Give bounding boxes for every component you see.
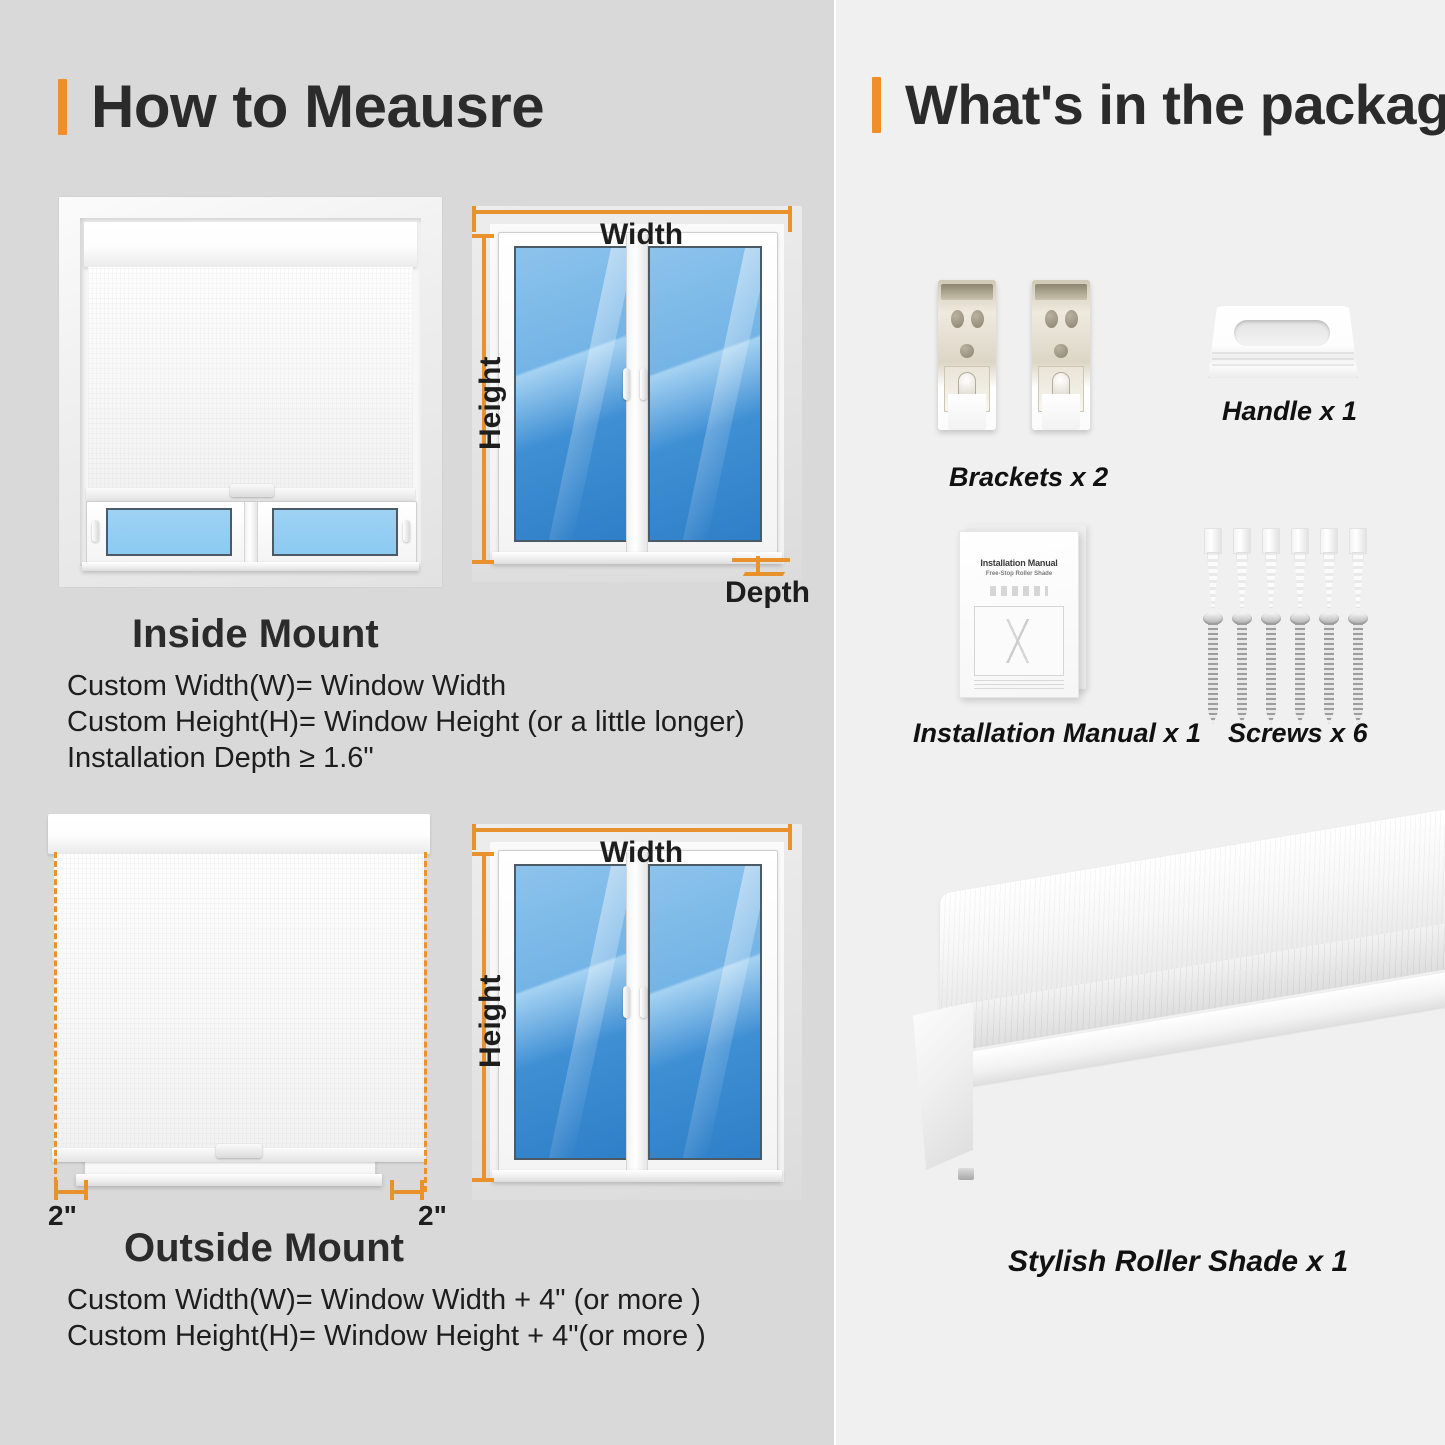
roller-shade-icon [900, 880, 1445, 1210]
package-title: What's in the package [905, 72, 1445, 137]
depth-label: Depth [725, 576, 810, 610]
screw-icon [1261, 612, 1281, 724]
screw-icon [1203, 612, 1223, 724]
infographic-page: How to Meausre [0, 0, 1445, 1445]
how-to-measure-heading: How to Meausre [58, 72, 544, 141]
package-heading: What's in the package [872, 72, 1445, 137]
handle-icon [1208, 306, 1358, 378]
window-pane-right [648, 246, 762, 542]
window-handle-left [623, 368, 630, 400]
manual-icon: Installation Manual Free-Stop Roller Sha… [959, 531, 1079, 698]
window-pane-left [106, 508, 232, 556]
wall-anchor-icon [1262, 528, 1280, 608]
overhang-right-label: 2" [418, 1200, 447, 1232]
handle-label: Handle x 1 [1222, 396, 1357, 427]
screw-icon [1348, 612, 1368, 724]
window-pane-right [648, 864, 762, 1160]
window-handle-right [403, 520, 410, 542]
window-sill [76, 1174, 382, 1186]
overhang-guide-right [424, 852, 427, 1192]
wall-anchor-icon [1320, 528, 1338, 608]
inside-mount-title: Inside Mount [132, 612, 379, 657]
shade-headrail [84, 222, 417, 267]
window-mullion [244, 502, 258, 562]
window-sill [492, 1170, 782, 1182]
manual-cover-subtitle: Free-Stop Roller Shade [968, 571, 1070, 577]
screw-icon [1319, 612, 1339, 724]
shade-headrail [48, 814, 430, 854]
roller-shade-label: Stylish Roller Shade x 1 [1008, 1245, 1348, 1279]
brackets-label: Brackets x 2 [949, 462, 1108, 493]
window-pane-left [514, 246, 628, 542]
window-handle-right [640, 368, 647, 400]
how-to-measure-title: How to Meausre [91, 72, 544, 141]
screw-icon [1290, 612, 1310, 724]
shade-pull-grip [216, 1144, 262, 1158]
wall-anchor-icon [1233, 528, 1251, 608]
panel-divider [834, 0, 836, 1445]
window-pane-left [514, 864, 628, 1160]
width-label: Width [600, 218, 683, 252]
shade-pull-grip [230, 484, 274, 497]
height-label: Height [474, 975, 508, 1068]
inside-mount-measure-diagram: Width Height Depth [460, 200, 810, 600]
screw-icon [1232, 612, 1252, 724]
overhang-left-label: 2" [48, 1200, 77, 1232]
window-sill [82, 562, 419, 571]
height-label: Height [474, 357, 508, 450]
wall-anchor-icon [1349, 528, 1367, 608]
screws-label: Screws x 6 [1228, 718, 1368, 749]
outside-mount-title: Outside Mount [124, 1226, 404, 1271]
outside-mount-shade-diagram: 2" 2" [36, 808, 446, 1208]
window-handle-left [623, 986, 630, 1018]
inside-mount-spec-0: Custom Width(W)= Window Width [67, 670, 506, 703]
overhang-guide-left [54, 852, 57, 1192]
inside-mount-spec-2: Installation Depth ≥ 1.6" [67, 742, 374, 775]
shade-fabric [54, 853, 424, 1149]
window-pane-right [272, 508, 398, 556]
outside-mount-measure-diagram: Width Height [460, 818, 810, 1218]
outside-mount-spec-1: Custom Height(H)= Window Height + 4"(or … [67, 1320, 706, 1353]
window-handle-right [640, 986, 647, 1018]
outside-mount-spec-0: Custom Width(W)= Window Width + 4" (or m… [67, 1284, 701, 1317]
manual-cover-title: Installation Manual [968, 558, 1070, 568]
inside-mount-shade-diagram [58, 196, 443, 588]
shade-fabric [88, 266, 413, 489]
installation-manual-label: Installation Manual x 1 [913, 718, 1201, 749]
accent-bar-icon [58, 79, 67, 135]
bracket-icon [1032, 280, 1090, 430]
accent-bar-icon [872, 77, 881, 133]
wall-anchor-icon [1204, 528, 1222, 608]
inside-mount-spec-1: Custom Height(H)= Window Height (or a li… [67, 706, 745, 739]
window-handle-left [92, 520, 99, 542]
wall-anchor-icon [1291, 528, 1309, 608]
screws-group [1204, 528, 1374, 708]
width-label: Width [600, 836, 683, 870]
bracket-icon [938, 280, 996, 430]
